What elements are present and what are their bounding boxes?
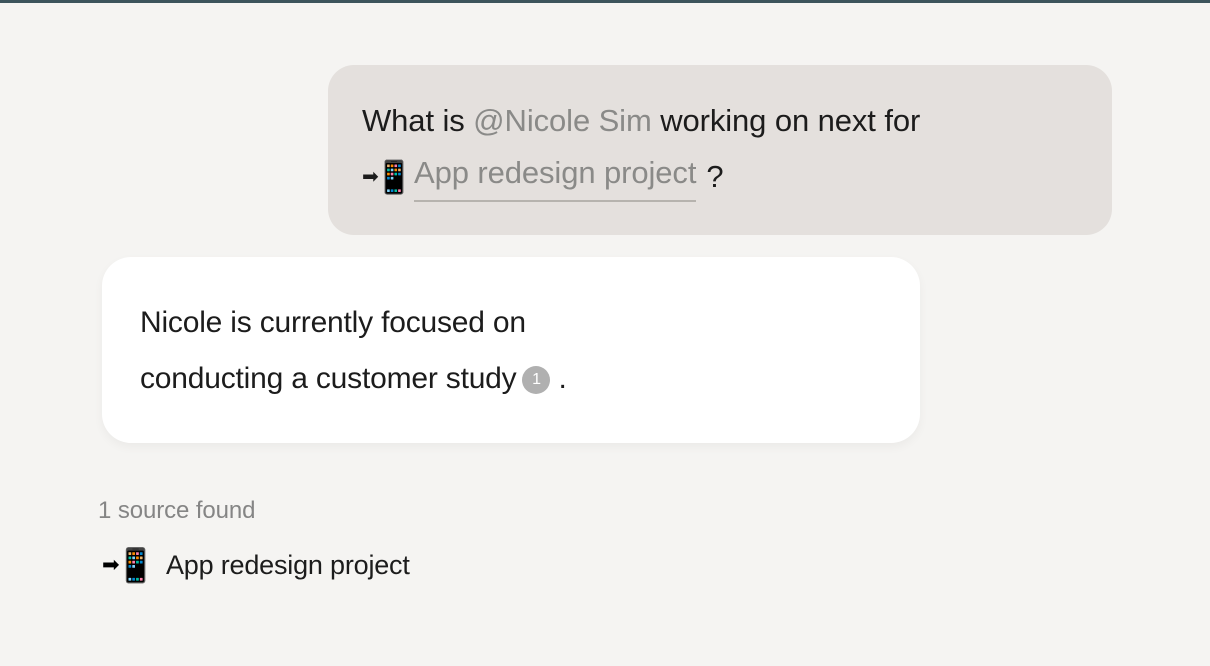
- person-mention-nicole-sim[interactable]: @Nicole Sim: [473, 103, 652, 138]
- question-mark: ?: [706, 149, 723, 205]
- question-text-prefix: What is: [362, 103, 473, 138]
- document-mention-chip[interactable]: ➡ 📱 App redesign project: [362, 153, 696, 202]
- source-list-item[interactable]: ➡ 📱 App redesign project: [98, 543, 416, 587]
- question-text-suffix: working on next for: [652, 103, 921, 138]
- conversation-stage: What is @Nicole Sim working on next for …: [0, 3, 1210, 666]
- answer-text-before-citation: conducting a customer study: [140, 362, 516, 395]
- mobile-phone-with-arrow-icon: ➡ 📱: [102, 545, 146, 585]
- answer-line-1: Nicole is currently focused on: [140, 295, 880, 351]
- answer-text-after-citation: .: [558, 362, 566, 395]
- sources-section: 1 source found ➡ 📱 App redesign project: [98, 495, 416, 587]
- answer-card: Nicole is currently focused on conductin…: [102, 257, 920, 443]
- question-line-1: What is @Nicole Sim working on next for: [362, 93, 1078, 149]
- mobile-phone-with-arrow-icon: ➡ 📱: [362, 156, 404, 198]
- sources-count-label: 1 source found: [98, 495, 416, 527]
- answer-line-2: conducting a customer study1.: [140, 351, 880, 407]
- mobile-phone-icon: 📱: [115, 549, 156, 582]
- question-line-2: ➡ 📱 App redesign project ?: [362, 149, 1078, 205]
- source-item-label: App redesign project: [166, 547, 410, 583]
- mobile-phone-icon: 📱: [374, 161, 414, 193]
- citation-badge-1[interactable]: 1: [522, 366, 550, 394]
- question-bubble: What is @Nicole Sim working on next for …: [328, 65, 1112, 235]
- document-mention-label: App redesign project: [414, 153, 696, 202]
